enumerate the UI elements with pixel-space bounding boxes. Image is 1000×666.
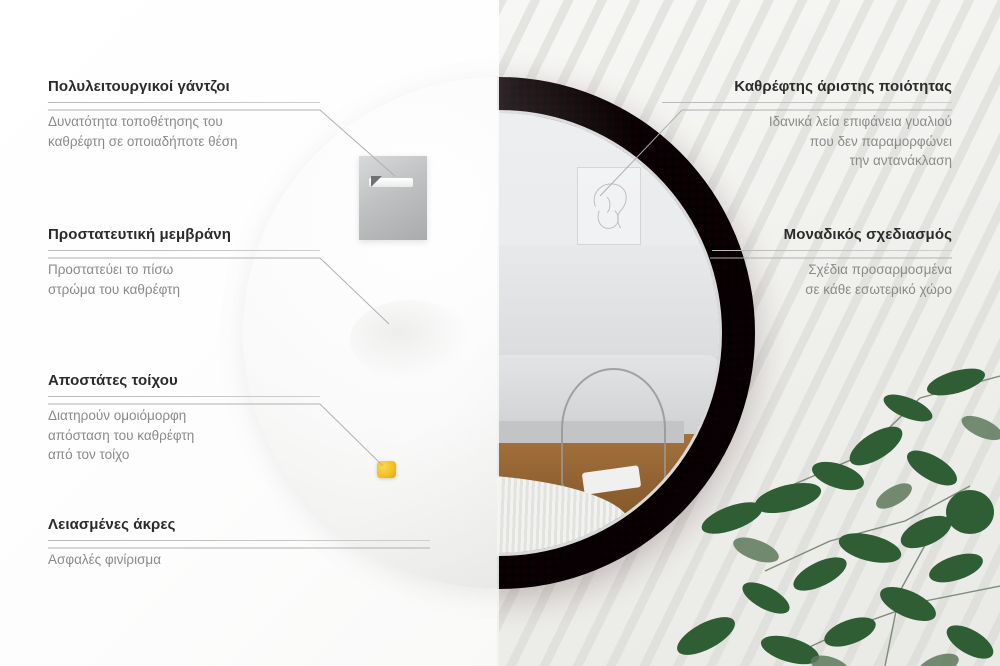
line-art-frame-icon: [577, 167, 641, 245]
feature-rule: [48, 540, 430, 541]
feature-title: Προστατευτική μεμβράνη: [48, 226, 320, 243]
protective-membrane-area: [350, 300, 470, 380]
feature-wall-spacers: Αποστάτες τοίχου Διατηρούν ομοιόμορφηαπό…: [48, 372, 320, 465]
panel-divider: [497, 0, 499, 666]
feature-desc: Δυνατότητα τοποθέτησης τουκαθρέφτη σε οπ…: [48, 112, 320, 151]
product-infographic: Πολυλειτουργικοί γάντζοι Δυνατότητα τοπο…: [0, 0, 1000, 666]
feature-smoothed-edges: Λειασμένες άκρες Ασφαλές φινίρισμα: [48, 516, 430, 570]
feature-top-quality-mirror: Καθρέφτης άριστης ποιότητας Ιδανικά λεία…: [662, 78, 952, 171]
feature-desc: Σχέδια προσαρμοσμένασε κάθε εσωτερικό χώ…: [712, 260, 952, 299]
feature-rule: [712, 250, 952, 251]
feature-rule: [48, 250, 320, 251]
feature-title: Πολυλειτουργικοί γάντζοι: [48, 78, 320, 95]
feature-title: Μοναδικός σχεδιασμός: [712, 226, 952, 243]
feature-rule: [662, 102, 952, 103]
feature-title: Λειασμένες άκρες: [48, 516, 430, 533]
feature-desc: Διατηρούν ομοιόμορφηαπόσταση του καθρέφτ…: [48, 406, 320, 465]
feature-unique-design: Μοναδικός σχεδιασμός Σχέδια προσαρμοσμέν…: [712, 226, 952, 299]
feature-desc: Ασφαλές φινίρισμα: [48, 550, 430, 570]
feature-title: Αποστάτες τοίχου: [48, 372, 320, 389]
feature-desc: Ιδανικά λεία επιφάνεια γυαλιούπου δεν πα…: [662, 112, 952, 171]
wall-spacer-dot-icon: [377, 461, 396, 478]
feature-protective-membrane: Προστατευτική μεμβράνη Προστατεύει το πί…: [48, 226, 320, 299]
feature-multifunctional-hooks: Πολυλειτουργικοί γάντζοι Δυνατότητα τοπο…: [48, 78, 320, 151]
feature-rule: [48, 102, 320, 103]
feature-desc: Προστατεύει το πίσωστρώμα του καθρέφτη: [48, 260, 320, 299]
eucalyptus-foliage: [670, 336, 1000, 666]
feature-title: Καθρέφτης άριστης ποιότητας: [662, 78, 952, 95]
hanging-hook-plate-icon: [359, 156, 427, 240]
feature-rule: [48, 396, 320, 397]
